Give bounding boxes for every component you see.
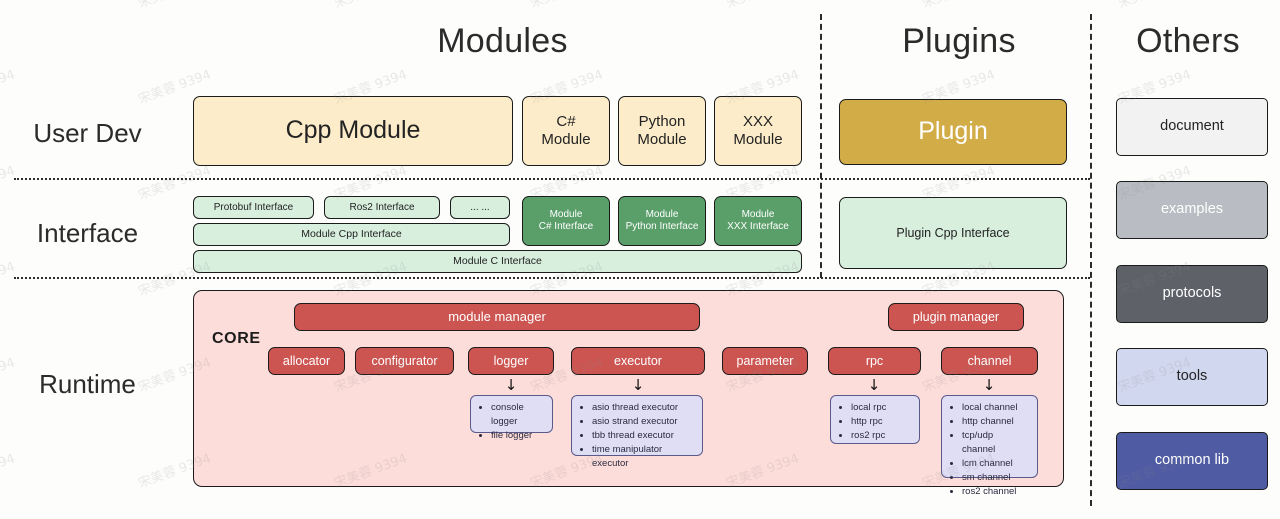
box-label: Protobuf Interface	[210, 202, 298, 214]
box-label: protocols	[1159, 285, 1226, 302]
executor-detail-items: asio thread executorasio strand executor…	[572, 396, 702, 476]
box-label: parameter	[733, 354, 798, 369]
box-label: allocator	[279, 354, 334, 369]
channel-detail-items: local channelhttp channeltcp/udp channel…	[942, 396, 1037, 504]
box-label: module manager	[444, 309, 550, 324]
detail-item: http rpc	[851, 415, 911, 429]
box-label: Module XXX Interface	[723, 209, 793, 233]
watermark-text: 宋美蓉 9394	[1115, 0, 1193, 11]
watermark-text: 宋美蓉 9394	[0, 448, 17, 492]
box-label: Module Python Interface	[622, 209, 703, 233]
box-label: Cpp Module	[282, 116, 425, 146]
box-examples[interactable]: examples	[1116, 181, 1268, 239]
box-module-python-interface[interactable]: Module Python Interface	[618, 196, 706, 246]
watermark-text: 宋美蓉 9394	[331, 0, 409, 11]
box-module-manager[interactable]: module manager	[294, 303, 700, 331]
divider-interface-runtime	[14, 277, 1090, 279]
detail-item: lcm channel	[962, 457, 1029, 471]
detail-item: ros2 rpc	[851, 429, 911, 443]
box-label: ... ...	[466, 202, 493, 214]
detail-item: tcp/udp channel	[962, 429, 1029, 457]
box-plugin[interactable]: Plugin	[839, 99, 1067, 165]
detail-item: sm channel	[962, 471, 1029, 485]
box-label: Module C# Interface	[535, 209, 597, 233]
detail-item: tbb thread executor	[592, 429, 694, 443]
detail-list-rpc: local rpchttp rpcros2 rpc	[830, 395, 920, 444]
box-module-cpp-interface[interactable]: Module Cpp Interface	[193, 223, 510, 246]
watermark-text: 宋美蓉 9394	[0, 160, 17, 204]
watermark-text: 宋美蓉 9394	[135, 0, 213, 11]
box-protobuf-interface[interactable]: Protobuf Interface	[193, 196, 314, 219]
box-python-module[interactable]: Python Module	[618, 96, 706, 166]
box-configurator[interactable]: configurator	[355, 347, 454, 375]
arrow-executor-down: ↓	[624, 377, 652, 393]
box-document[interactable]: document	[1116, 98, 1268, 156]
box-cpp-module[interactable]: Cpp Module	[193, 96, 513, 166]
box-label: Module C Interface	[449, 255, 546, 267]
box-label: XXX Module	[729, 113, 786, 148]
detail-list-logger: console loggerfile logger	[470, 395, 553, 433]
watermark-text: 宋美蓉 9394	[0, 64, 17, 108]
arrow-channel-down: ↓	[975, 377, 1003, 393]
box-label: tools	[1173, 368, 1212, 385]
detail-item: ros2 channel	[962, 485, 1029, 499]
detail-item: local channel	[962, 401, 1029, 415]
box-parameter[interactable]: parameter	[722, 347, 808, 375]
box-allocator[interactable]: allocator	[268, 347, 345, 375]
box-protocols[interactable]: protocols	[1116, 265, 1268, 323]
watermark-text: 宋美蓉 9394	[723, 0, 801, 11]
arrow-logger-down: ↓	[497, 377, 525, 393]
box-rpc[interactable]: rpc	[828, 347, 921, 375]
divider-modules-plugins	[820, 14, 822, 278]
detail-item: time manipulator executor	[592, 443, 694, 471]
watermark-text: 宋美蓉 9394	[527, 0, 605, 11]
box-label: Python Module	[633, 113, 690, 148]
divider-userdev-interface	[14, 178, 1090, 180]
row-label-interface: Interface	[0, 218, 175, 249]
row-label-user-dev: User Dev	[0, 118, 175, 149]
detail-item: asio thread executor	[592, 401, 694, 415]
box-module-c-interface[interactable]: Module C Interface	[193, 250, 802, 273]
box-label: Ros2 Interface	[345, 202, 418, 214]
watermark-text: 宋美蓉 9394	[919, 0, 997, 11]
box-module-xxx-interface[interactable]: Module XXX Interface	[714, 196, 802, 246]
box-ellipsis-interface[interactable]: ... ...	[450, 196, 510, 219]
box-label: common lib	[1151, 452, 1233, 469]
detail-item: console logger	[491, 401, 544, 429]
box-executor[interactable]: executor	[571, 347, 705, 375]
box-logger[interactable]: logger	[468, 347, 554, 375]
box-channel[interactable]: channel	[941, 347, 1038, 375]
detail-item: file logger	[491, 429, 544, 443]
box-label: configurator	[367, 354, 441, 369]
row-label-runtime: Runtime	[0, 369, 175, 400]
box-plugin-manager[interactable]: plugin manager	[888, 303, 1024, 331]
column-header-others: Others	[1098, 22, 1278, 61]
column-header-plugins: Plugins	[828, 22, 1090, 61]
box-common-lib[interactable]: common lib	[1116, 432, 1268, 490]
watermark-text: 宋美蓉 9394	[0, 0, 17, 11]
core-title: CORE	[212, 330, 261, 348]
architecture-diagram: 宋美蓉 9394宋美蓉 9394宋美蓉 9394宋美蓉 9394宋美蓉 9394…	[0, 0, 1280, 519]
detail-item: http channel	[962, 415, 1029, 429]
box-label: Plugin Cpp Interface	[892, 226, 1013, 241]
box-label: Module Cpp Interface	[297, 228, 405, 240]
box-ros2-interface[interactable]: Ros2 Interface	[324, 196, 440, 219]
column-header-modules: Modules	[185, 22, 820, 61]
box-label: examples	[1157, 201, 1227, 218]
rpc-detail-items: local rpchttp rpcros2 rpc	[831, 396, 919, 448]
box-label: document	[1156, 118, 1228, 135]
box-plugin-cpp-interface[interactable]: Plugin Cpp Interface	[839, 197, 1067, 269]
logger-detail-items: console loggerfile logger	[471, 396, 552, 448]
detail-item: asio strand executor	[592, 415, 694, 429]
box-csharp-module[interactable]: C# Module	[522, 96, 610, 166]
box-label: rpc	[862, 354, 887, 369]
divider-plugins-others	[1090, 14, 1092, 506]
box-module-csharp-interface[interactable]: Module C# Interface	[522, 196, 610, 246]
box-label: channel	[964, 354, 1016, 369]
arrow-rpc-down: ↓	[860, 377, 888, 393]
box-label: C# Module	[537, 113, 594, 148]
box-label: plugin manager	[909, 310, 1003, 325]
box-tools[interactable]: tools	[1116, 348, 1268, 406]
box-label: Plugin	[914, 117, 992, 147]
box-label: executor	[610, 354, 666, 369]
box-xxx-module[interactable]: XXX Module	[714, 96, 802, 166]
detail-item: local rpc	[851, 401, 911, 415]
box-label: logger	[490, 354, 533, 369]
detail-list-executor: asio thread executorasio strand executor…	[571, 395, 703, 456]
detail-list-channel: local channelhttp channeltcp/udp channel…	[941, 395, 1038, 478]
